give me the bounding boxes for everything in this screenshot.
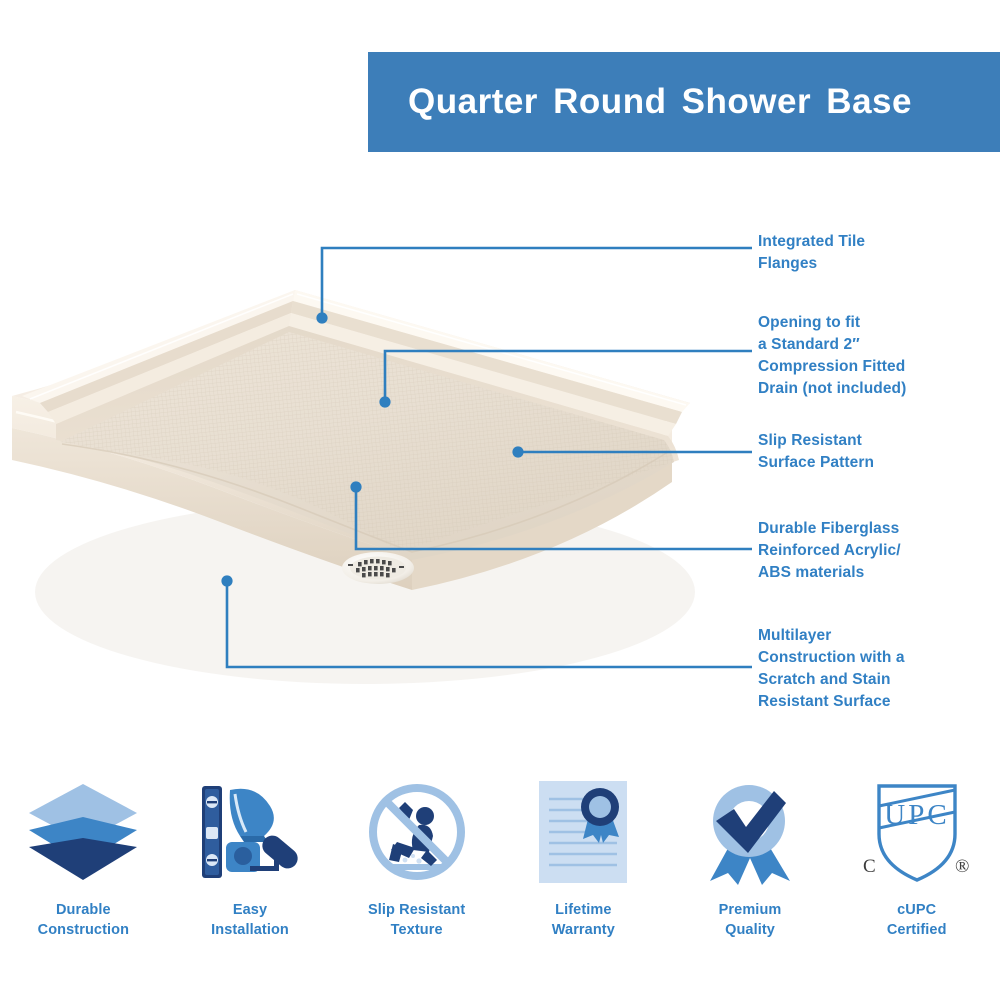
feature-easy-installation: Easy Installation: [167, 772, 334, 1000]
stacked-layers-icon: [25, 772, 141, 892]
feature-label: Durable Construction: [38, 900, 129, 940]
feature-label: Lifetime Warranty: [552, 900, 615, 940]
feature-label: Easy Installation: [211, 900, 289, 940]
feature-premium-quality: Premium Quality: [667, 772, 834, 1000]
callout-anchor-dots: [221, 312, 523, 586]
feature-label: cUPC Certified: [887, 900, 947, 940]
feature-cupc-certified: UPC C ® cUPC Certified: [833, 772, 1000, 1000]
upc-shield-text: UPC: [884, 799, 949, 831]
upc-left-mark: C: [863, 856, 876, 877]
infographic-page: Quarter Round Shower Base: [0, 0, 1000, 1000]
callout-durable-materials: Durable Fiberglass Reinforced Acrylic/ A…: [758, 518, 901, 584]
no-slip-icon: [363, 772, 471, 892]
feature-strip: Durable Construction: [0, 772, 1000, 1000]
callout-slip-resistant-surface: Slip Resistant Surface Pattern: [758, 430, 874, 474]
feature-label: Slip Resistant Texture: [368, 900, 465, 940]
award-check-icon: [698, 772, 802, 892]
feature-label: Premium Quality: [719, 900, 782, 940]
feature-lifetime-warranty: Lifetime Warranty: [500, 772, 667, 1000]
feature-durable-construction: Durable Construction: [0, 772, 167, 1000]
callout-integrated-tile-flanges: Integrated Tile Flanges: [758, 231, 865, 275]
feature-slip-resistant-texture: Slip Resistant Texture: [333, 772, 500, 1000]
upc-right-mark: ®: [955, 856, 969, 877]
level-trowel-tape-icon: [194, 772, 306, 892]
upc-shield-icon: UPC C ®: [855, 772, 979, 892]
page-title: Quarter Round Shower Base: [368, 82, 912, 122]
certificate-seal-icon: [533, 772, 633, 892]
title-banner: Quarter Round Shower Base: [368, 52, 1000, 152]
callout-multilayer-construction: Multilayer Construction with a Scratch a…: [758, 625, 905, 713]
callout-drain-opening: Opening to fit a Standard 2″ Compression…: [758, 312, 906, 400]
